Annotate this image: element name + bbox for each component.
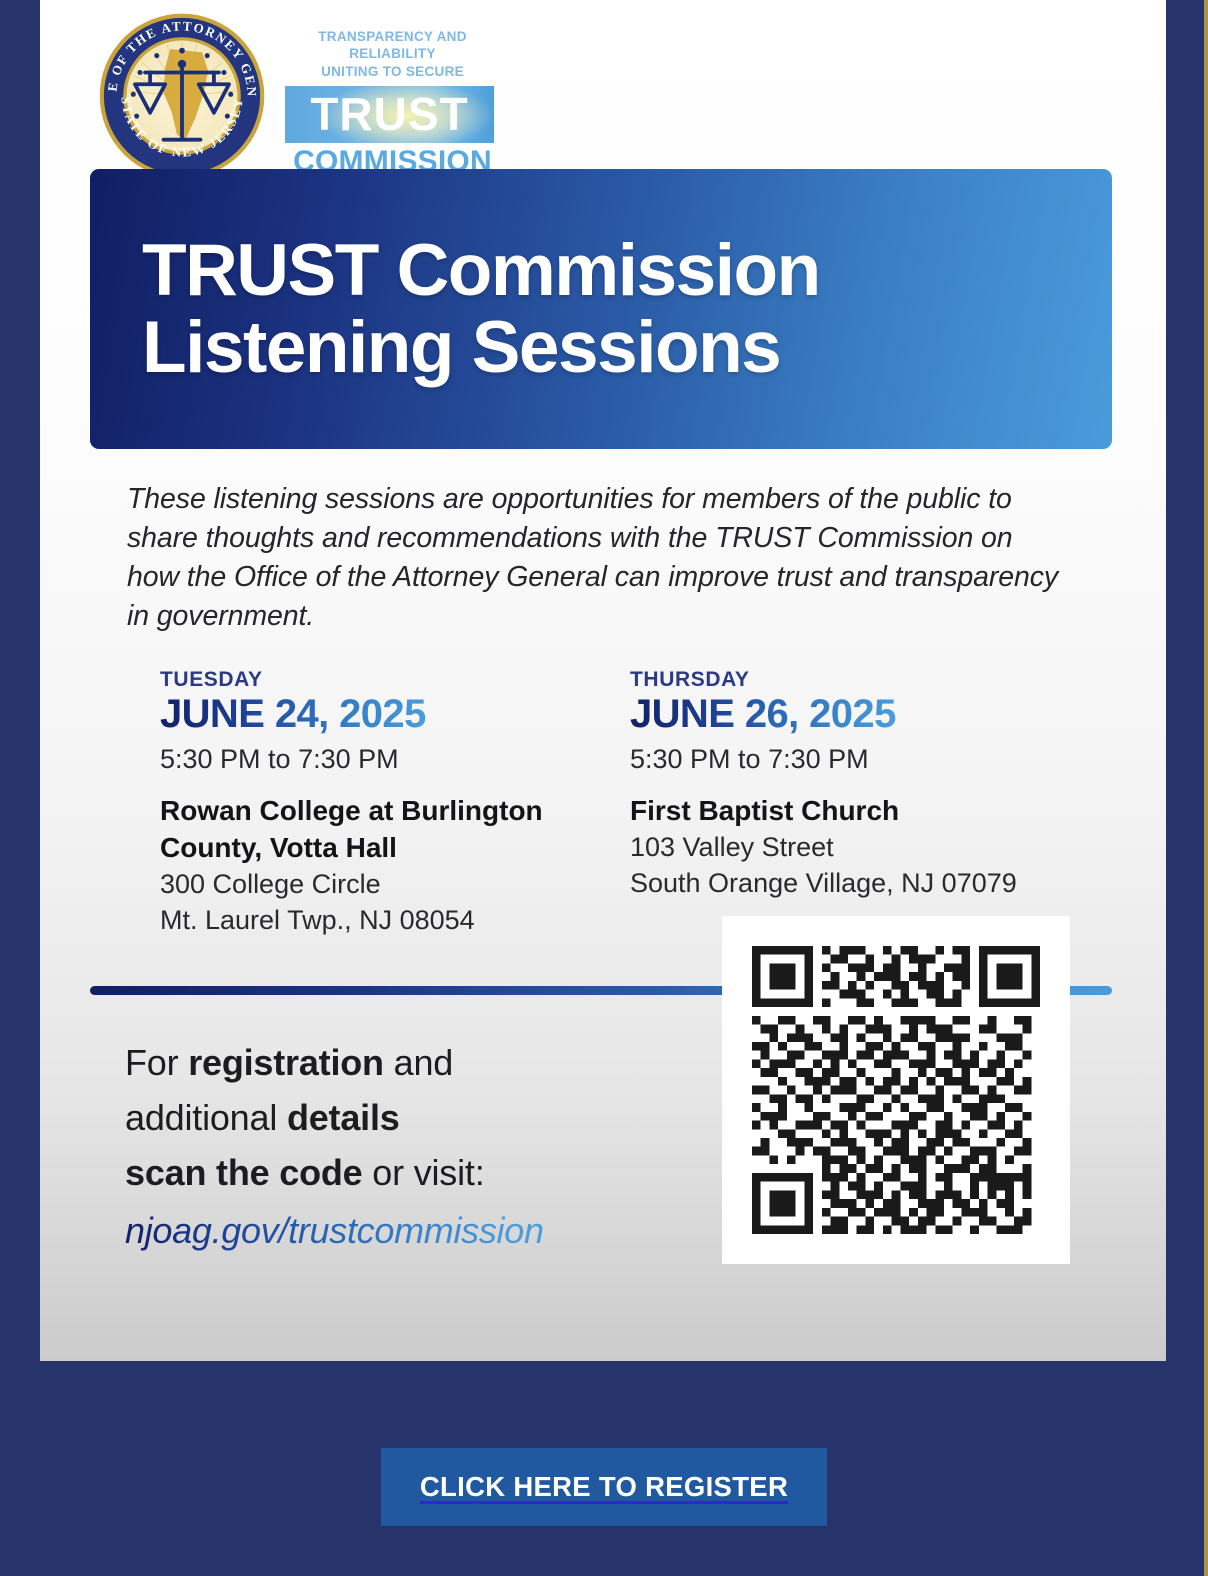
registration-block: For registration and additional details … <box>125 1035 745 1258</box>
registration-line1-bold: registration <box>188 1042 384 1083</box>
registration-line1-prefix: For <box>125 1042 188 1083</box>
registration-line3-bold: scan the code <box>125 1152 362 1193</box>
intro-paragraph: These listening sessions are opportuniti… <box>127 480 1067 636</box>
event-address-line1: 300 College Circle <box>160 867 630 903</box>
event-weekday: TUESDAY <box>160 668 630 691</box>
cta-label: CLICK HERE TO REGISTER <box>420 1471 788 1503</box>
hero-title-line1: TRUST Commission <box>142 232 1112 309</box>
registration-line2-prefix: additional <box>125 1097 287 1138</box>
trust-tagline-line1: TRANSPARENCY AND RELIABILITY <box>285 28 500 63</box>
registration-url[interactable]: njoag.gov/trustcommission <box>125 1204 544 1258</box>
cta-row: CLICK HERE TO REGISTER <box>0 1448 1208 1526</box>
event-weekday: THURSDAY <box>630 668 1120 691</box>
nj-attorney-general-seal-icon: OFFICE OF THE ATTORNEY GENERAL STATE OF … <box>98 12 266 180</box>
hero-title-line2: Listening Sessions <box>142 309 1112 386</box>
qr-code-icon[interactable] <box>752 946 1040 1234</box>
event-date: JUNE 24, 2025 <box>160 691 426 738</box>
event-address: 300 College Circle Mt. Laurel Twp., NJ 0… <box>160 867 630 939</box>
event-address: 103 Valley Street South Orange Village, … <box>630 830 1120 902</box>
gold-edge-stripe <box>1204 0 1208 1576</box>
trust-wordmark-box: TRUST <box>285 86 494 143</box>
registration-line1-suffix: and <box>384 1042 453 1083</box>
hero-banner: TRUST Commission Listening Sessions <box>90 169 1112 449</box>
event-venue: Rowan College at Burlington County, Vott… <box>160 793 630 867</box>
flyer-card: OFFICE OF THE ATTORNEY GENERAL STATE OF … <box>40 0 1166 1361</box>
event-address-line1: 103 Valley Street <box>630 830 1120 866</box>
flyer-page: OFFICE OF THE ATTORNEY GENERAL STATE OF … <box>0 0 1208 1576</box>
event-address-line2: South Orange Village, NJ 07079 <box>630 866 1120 902</box>
event-venue-line2: County, Votta Hall <box>160 830 630 867</box>
event-date: JUNE 26, 2025 <box>630 691 896 738</box>
event-time: 5:30 PM to 7:30 PM <box>160 742 630 777</box>
trust-commission-logo: TRANSPARENCY AND RELIABILITY UNITING TO … <box>285 28 500 178</box>
trust-tagline-line2: UNITING TO SECURE <box>285 63 500 80</box>
registration-line-1: For registration and <box>125 1035 745 1090</box>
qr-code-card <box>722 916 1070 1264</box>
trust-wordmark: TRUST <box>310 91 468 137</box>
event-item: THURSDAY JUNE 26, 2025 5:30 PM to 7:30 P… <box>630 668 1120 939</box>
events-list: TUESDAY JUNE 24, 2025 5:30 PM to 7:30 PM… <box>160 668 1120 939</box>
event-address-line2: Mt. Laurel Twp., NJ 08054 <box>160 903 630 939</box>
logo-row: OFFICE OF THE ATTORNEY GENERAL STATE OF … <box>40 0 1166 168</box>
event-item: TUESDAY JUNE 24, 2025 5:30 PM to 7:30 PM… <box>160 668 630 939</box>
registration-line2-bold: details <box>287 1097 400 1138</box>
registration-line-3: scan the code or visit: <box>125 1145 745 1200</box>
registration-line-2: additional details <box>125 1090 745 1145</box>
event-venue-line1: Rowan College at Burlington <box>160 793 630 830</box>
trust-tagline: TRANSPARENCY AND RELIABILITY UNITING TO … <box>285 28 500 80</box>
registration-line3-suffix: or visit: <box>362 1152 484 1193</box>
event-time: 5:30 PM to 7:30 PM <box>630 742 1120 777</box>
click-here-to-register-button[interactable]: CLICK HERE TO REGISTER <box>381 1448 827 1526</box>
event-venue-line1: First Baptist Church <box>630 793 1120 830</box>
event-venue: First Baptist Church <box>630 793 1120 830</box>
